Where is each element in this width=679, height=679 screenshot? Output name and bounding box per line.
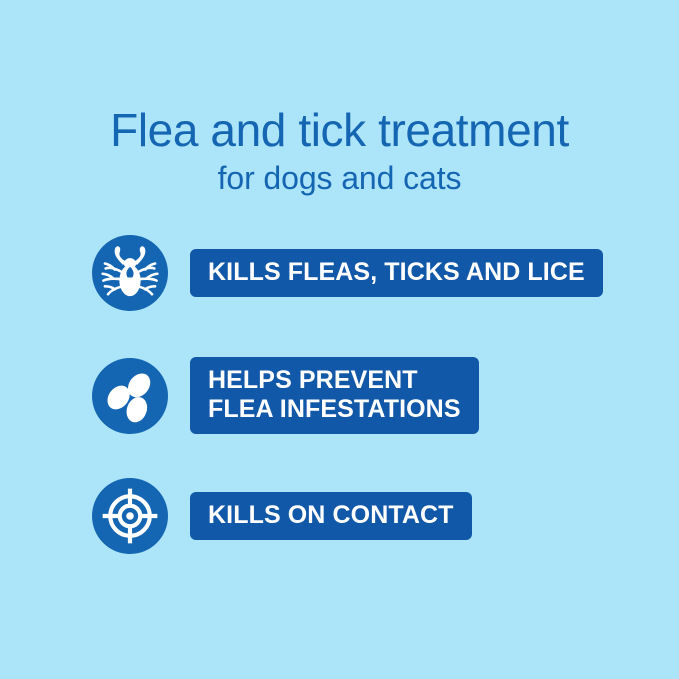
flea-eggs-icon <box>92 358 168 434</box>
feature-label: KILLS ON CONTACT <box>208 501 454 530</box>
feature-row-kills-fleas-ticks-lice: KILLS FLEAS, TICKS AND LICE <box>92 235 603 311</box>
feature-row-kills-on-contact: KILLS ON CONTACT <box>92 478 472 554</box>
page-title: Flea and tick treatment <box>0 104 679 156</box>
heading-block: Flea and tick treatment for dogs and cat… <box>0 104 679 197</box>
feature-pill-helps-prevent-flea-infestations: HELPS PREVENT FLEA INFESTATIONS <box>190 357 479 434</box>
feature-pill-kills-on-contact: KILLS ON CONTACT <box>190 492 472 540</box>
infographic-panel: Flea and tick treatment for dogs and cat… <box>0 0 679 679</box>
crosshair-target-icon <box>92 478 168 554</box>
page-subtitle: for dogs and cats <box>0 159 679 197</box>
feature-row-helps-prevent-flea-infestations: HELPS PREVENT FLEA INFESTATIONS <box>92 357 479 434</box>
feature-label: HELPS PREVENT FLEA INFESTATIONS <box>208 366 461 424</box>
tick-icon <box>92 235 168 311</box>
feature-pill-kills-fleas-ticks-lice: KILLS FLEAS, TICKS AND LICE <box>190 249 603 297</box>
feature-label: KILLS FLEAS, TICKS AND LICE <box>208 258 585 287</box>
